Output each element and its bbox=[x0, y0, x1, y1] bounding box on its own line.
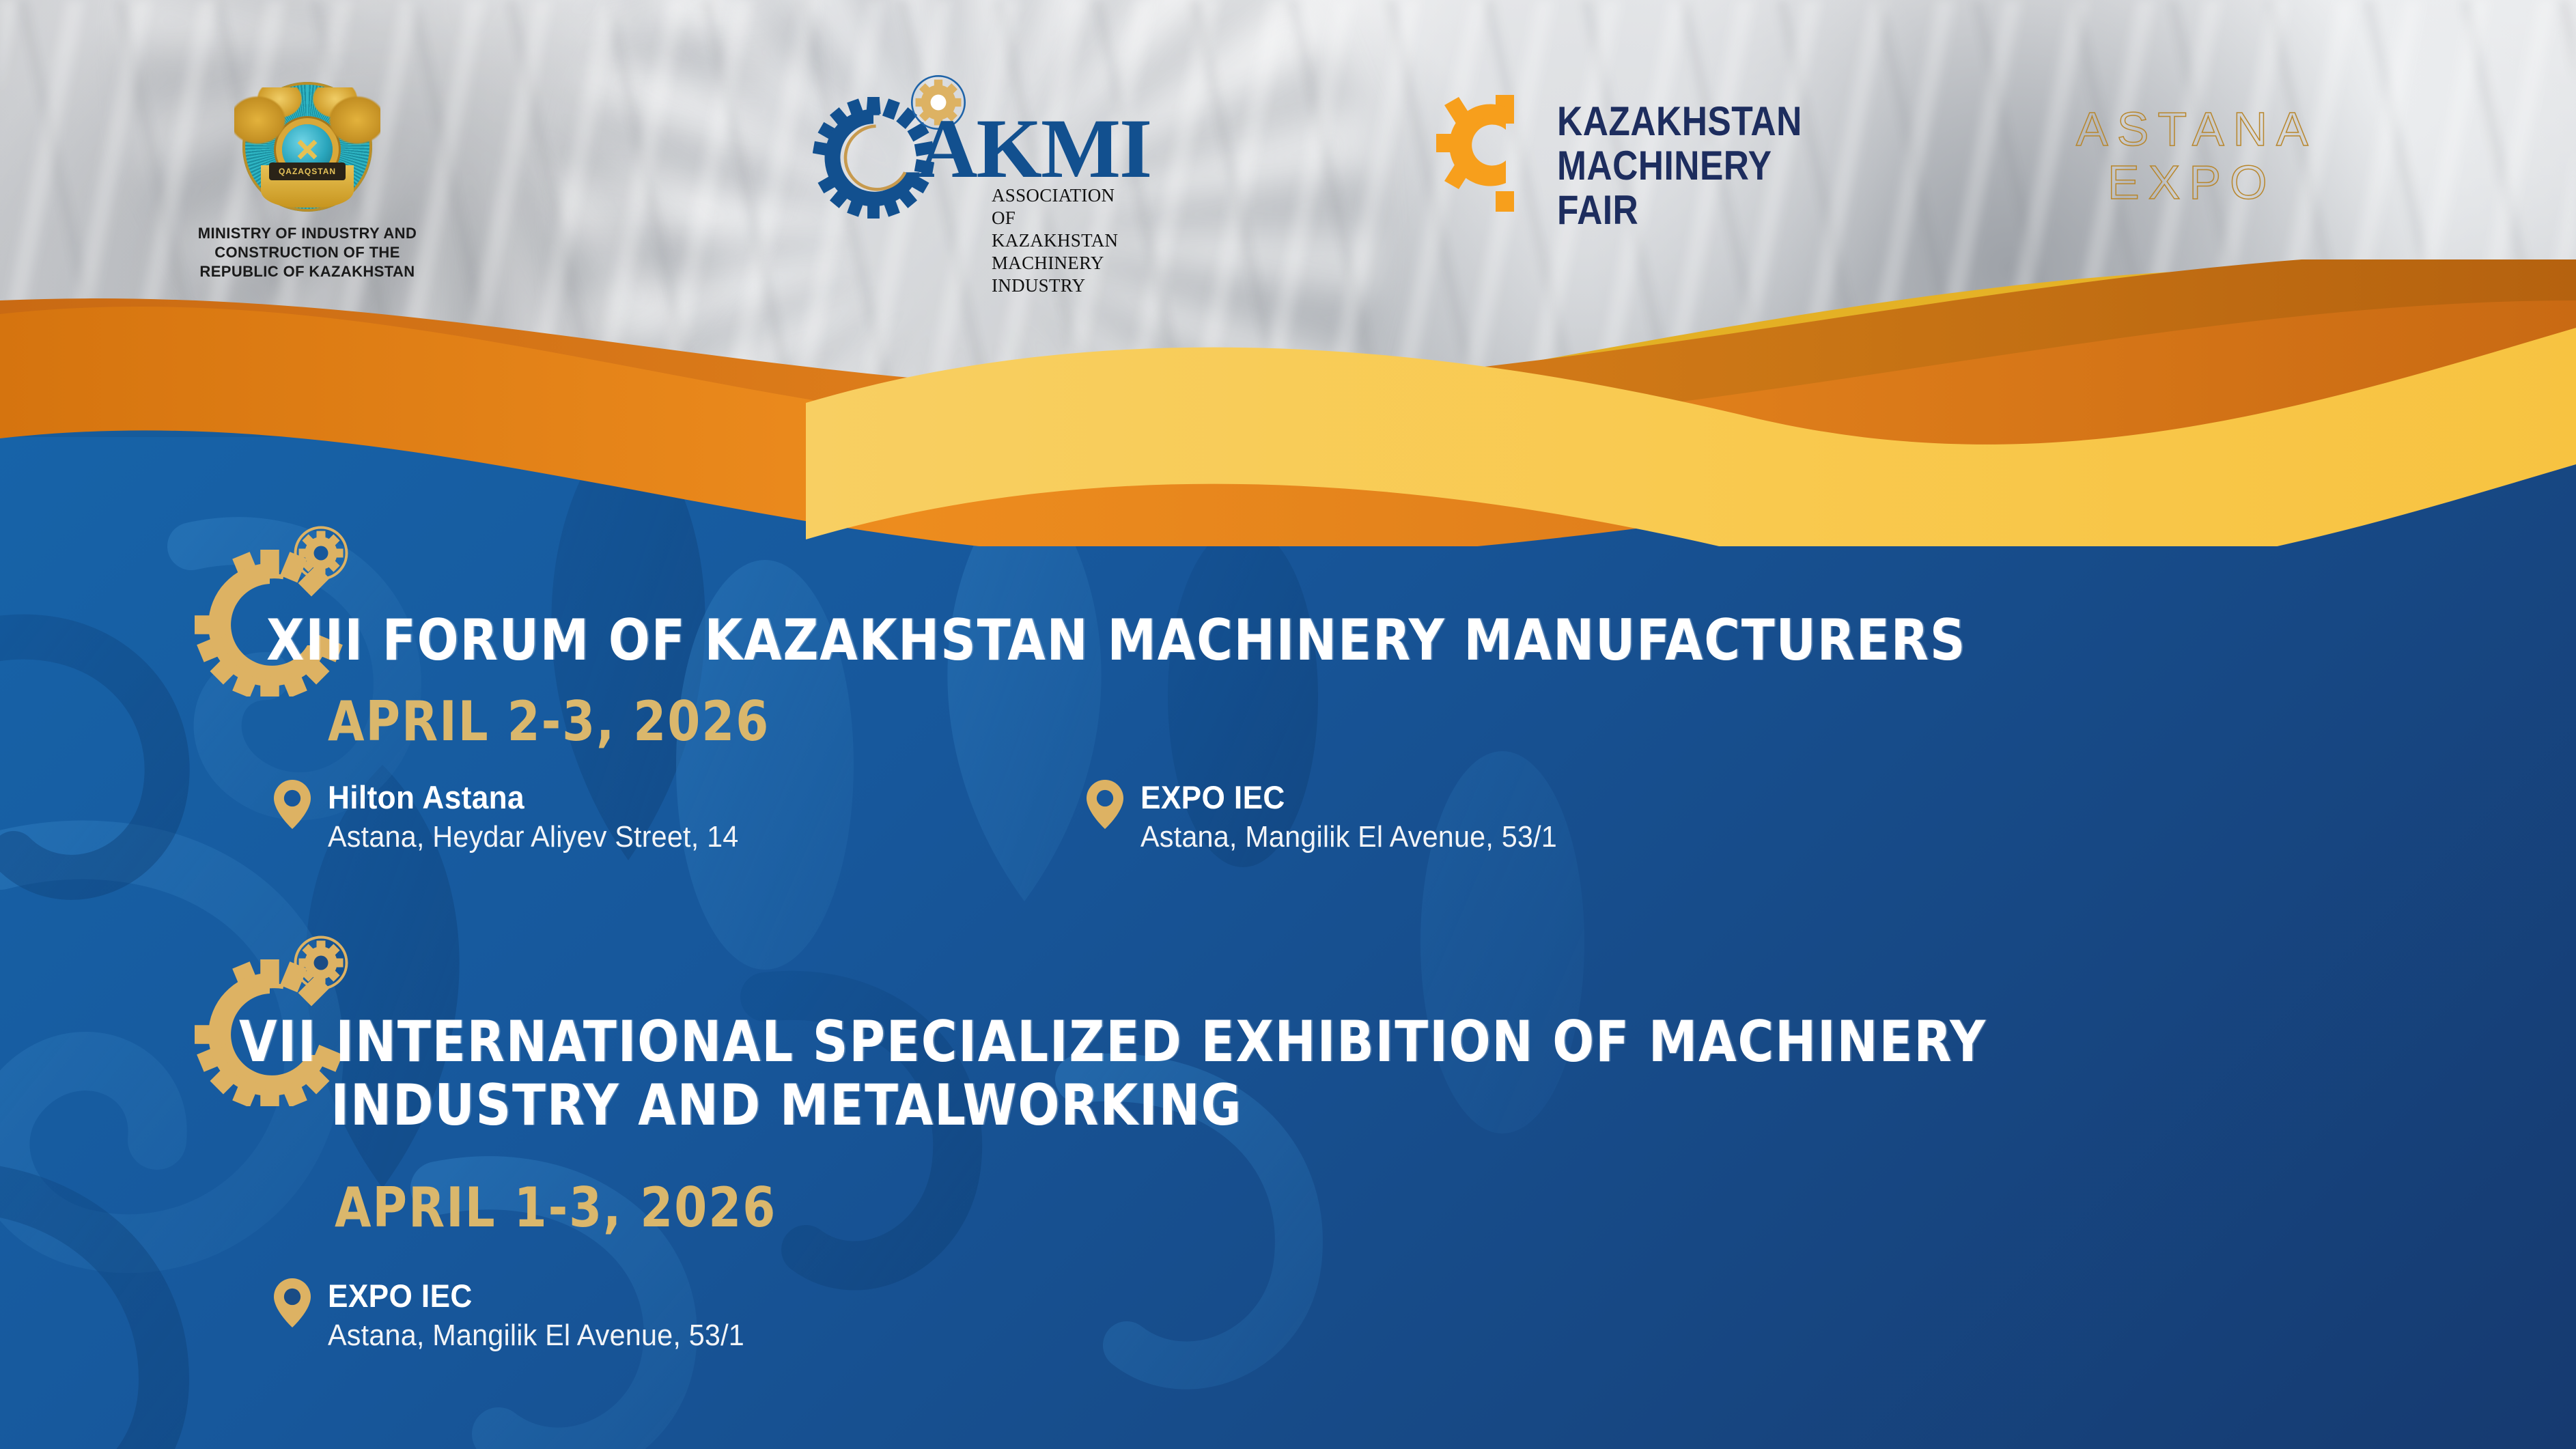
forum-title: XIII FORUM OF KAZAKHSTAN MACHINERY MANUF… bbox=[266, 609, 1966, 673]
exhibition-venue-1-name: EXPO IEC bbox=[328, 1277, 744, 1314]
kmf-wordmark: KAZAKHSTAN MACHINERY FAIR bbox=[1557, 100, 1802, 232]
forum-small-gear-icon bbox=[296, 528, 347, 579]
forum-title-line-1: XIII FORUM OF KAZAKHSTAN MACHINERY MANUF… bbox=[266, 609, 1966, 673]
forum-venue-2: EXPO IEC Astana, Mangilik El Avenue, 53/… bbox=[1079, 778, 1584, 854]
exhibition-venue-1: EXPO IEC Astana, Mangilik El Avenue, 53/… bbox=[266, 1277, 771, 1353]
events-content: XIII FORUM OF KAZAKHSTAN MACHINERY MANUF… bbox=[0, 437, 2576, 1449]
forum-date: APRIL 2-3, 2026 bbox=[328, 690, 770, 753]
forum-venue-1-address: Astana, Heydar Aliyev Street, 14 bbox=[328, 820, 1034, 854]
forum-venues: Hilton Astana Astana, Heydar Aliyev Stre… bbox=[266, 778, 1584, 854]
ministry-logo: QAZAQSTAN MINISTRY OF INDUSTRY AND CONST… bbox=[171, 82, 444, 281]
kmf-gear-icon bbox=[1434, 89, 1537, 212]
exhibition-title: VII INTERNATIONAL SPECIALIZED EXHIBITION… bbox=[239, 1011, 1987, 1138]
exhibition-title-line-1: VII INTERNATIONAL SPECIALIZED EXHIBITION… bbox=[239, 1011, 1987, 1074]
event-poster: QAZAQSTAN MINISTRY OF INDUSTRY AND CONST… bbox=[0, 0, 2576, 1449]
kazakhstan-emblem-icon: QAZAQSTAN bbox=[242, 82, 372, 212]
location-pin-icon bbox=[273, 780, 311, 829]
exhibition-venue-1-address: Astana, Mangilik El Avenue, 53/1 bbox=[328, 1319, 744, 1353]
akmi-sub-line-2: OF KAZAKHSTAN bbox=[992, 207, 1118, 252]
kmf-line-1: KAZAKHSTAN bbox=[1557, 100, 1802, 144]
astana-expo-logo: ASTANA EXPO bbox=[2076, 102, 2317, 210]
forum-venue-2-address: Astana, Mangilik El Avenue, 53/1 bbox=[1140, 820, 1557, 854]
forum-venue-2-name: EXPO IEC bbox=[1140, 778, 1557, 816]
emblem-ribbon-label: QAZAQSTAN bbox=[269, 163, 346, 180]
exhibition-small-gear-icon bbox=[296, 938, 347, 989]
akmi-logo: AKMI ASSOCIATION OF KAZAKHSTAN MACHINERY… bbox=[813, 82, 1106, 205]
astana-expo-line-1: ASTANA bbox=[2076, 102, 2317, 156]
emblem-wings bbox=[234, 87, 380, 169]
akmi-wordmark: AKMI bbox=[916, 107, 1151, 191]
ministry-line-1: MINISTRY OF INDUSTRY AND bbox=[171, 224, 444, 243]
astana-expo-line-2: EXPO bbox=[2076, 156, 2317, 209]
location-pin-icon bbox=[273, 1278, 311, 1327]
forum-venue-1-name: Hilton Astana bbox=[328, 778, 1034, 816]
location-pin-icon bbox=[1086, 780, 1124, 829]
forum-venue-1: Hilton Astana Astana, Heydar Aliyev Stre… bbox=[266, 778, 1079, 854]
kmf-line-2: MACHINERY FAIR bbox=[1557, 144, 1802, 233]
akmi-sub-line-1: ASSOCIATION bbox=[992, 184, 1118, 207]
exhibition-date: APRIL 1-3, 2026 bbox=[335, 1176, 776, 1239]
exhibition-venues: EXPO IEC Astana, Mangilik El Avenue, 53/… bbox=[266, 1277, 771, 1353]
exhibition-title-line-2: INDUSTRY AND METALWORKING bbox=[239, 1074, 1987, 1138]
